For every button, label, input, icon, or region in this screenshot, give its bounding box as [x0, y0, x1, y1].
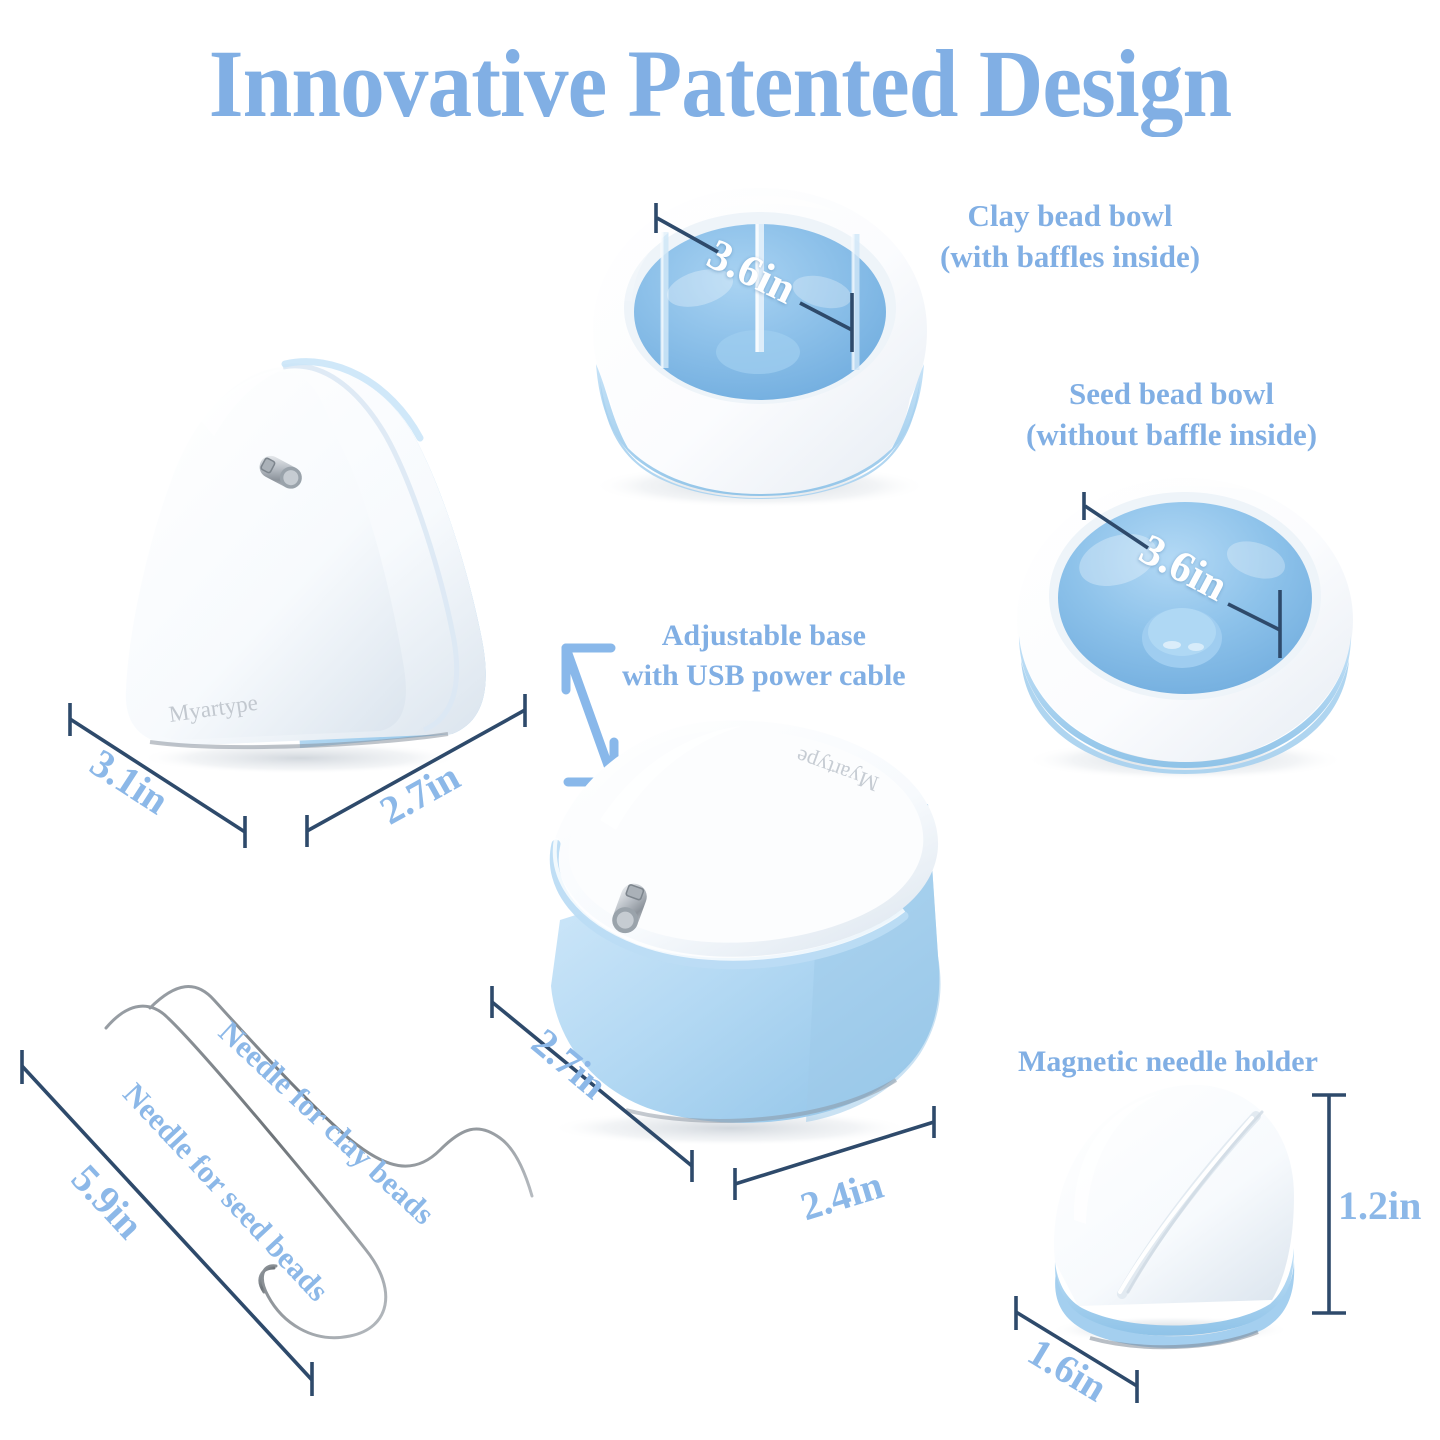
adjustable-arrow: [566, 648, 614, 782]
label-clay-bead-bowl: Clay bead bowl (with baffles inside): [940, 196, 1200, 278]
infographic-canvas: Innovative Patented Design: [0, 0, 1440, 1440]
label-magnetic-needle-holder: Magnetic needle holder: [1018, 1042, 1318, 1082]
seed-bead-bowl-illustration: [1017, 478, 1353, 780]
label-clay-bead-bowl-line1: Clay bead bowl: [940, 196, 1200, 237]
label-adjustable-base: Adjustable base with USB power cable: [622, 616, 906, 695]
label-adjustable-base-line2: with USB power cable: [622, 656, 906, 696]
label-magnetic-needle-holder-line1: Magnetic needle holder: [1018, 1042, 1318, 1082]
magnetic-needle-holder-illustration: [1050, 1085, 1294, 1348]
label-seed-bead-bowl-line2: (without baffle inside): [1026, 415, 1317, 456]
label-seed-bead-bowl-line1: Seed bead bowl: [1026, 374, 1317, 415]
label-seed-bead-bowl: Seed bead bowl (without baffle inside): [1026, 374, 1317, 456]
clay-bead-bowl-illustration: [592, 188, 928, 508]
product-illustrations: Myartype: [0, 0, 1440, 1440]
label-clay-bead-bowl-line2: (with baffles inside): [940, 237, 1200, 278]
adjustable-base-upright-illustration: Myartype: [126, 362, 486, 774]
label-adjustable-base-line1: Adjustable base: [622, 616, 906, 656]
adjustable-base-tilted-illustration: Myartype: [550, 721, 941, 1146]
dimension-text-holder-height: 1.2in: [1338, 1182, 1421, 1229]
